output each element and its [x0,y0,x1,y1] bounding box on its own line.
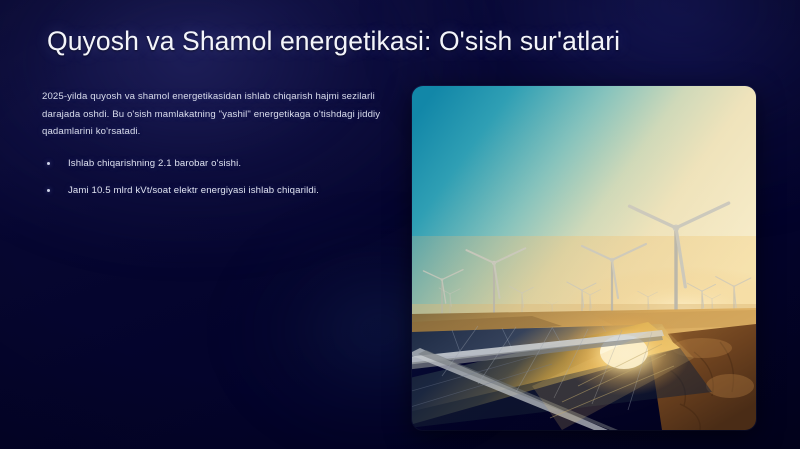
list-item: Ishlab chiqarishning 2.1 barobar o'sishi… [42,157,382,171]
bullet-dot-icon [47,162,50,165]
intro-paragraph: 2025-yilda quyosh va shamol energetikasi… [42,88,382,141]
text-column: 2025-yilda quyosh va shamol energetikasi… [42,88,382,211]
photo-artwork [412,86,756,430]
bullet-dot-icon [47,189,50,192]
slide-canvas: Quyosh va Shamol energetikasi: O'sish su… [0,0,800,449]
renewable-energy-photo [412,86,756,430]
list-item-label: Jami 10.5 mlrd kVt/soat elektr energiyas… [68,185,319,196]
list-item: Jami 10.5 mlrd kVt/soat elektr energiyas… [42,184,382,198]
list-item-label: Ishlab chiqarishning 2.1 barobar o'sishi… [68,158,241,169]
bullet-list: Ishlab chiqarishning 2.1 barobar o'sishi… [42,157,382,198]
slide-title: Quyosh va Shamol energetikasi: O'sish su… [47,26,747,57]
